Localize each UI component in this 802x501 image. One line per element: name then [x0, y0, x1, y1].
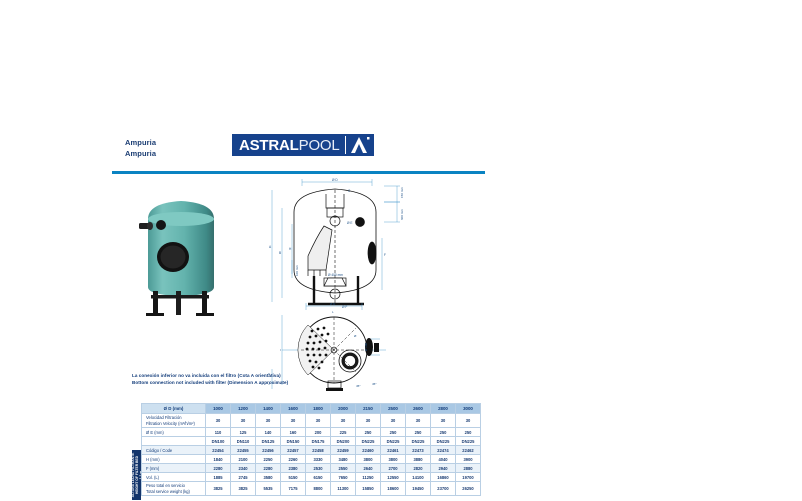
table-cell: 22456	[256, 446, 281, 455]
row-label: Velocidad Filtración Filtration Velocity…	[142, 414, 206, 428]
table-cell: 7175	[281, 482, 306, 496]
caption-line-en: Bottom connection not included with filt…	[132, 379, 362, 386]
table-cell: 22474	[431, 446, 456, 455]
row-label: Código / Code	[142, 446, 206, 455]
table-cell: 30	[231, 414, 256, 428]
table-cell: 2340	[231, 464, 256, 473]
table-cell: 22462	[456, 446, 481, 455]
table-corner-label: Ø D (mm)	[142, 404, 206, 414]
row-label: F (mm)	[142, 464, 206, 473]
logo-primary-text: ASTRAL	[239, 137, 299, 154]
table-cell: 2940	[431, 464, 456, 473]
table-row: H (mm) 1840 2100 2250 2260 3330 3480 380…	[142, 455, 481, 464]
logo-wordmark: ASTRALPOOL	[232, 138, 340, 153]
table-cell: 30	[381, 414, 406, 428]
table-row: Ø E (mm) 110 125 140 160 200 225 250 250…	[142, 428, 481, 437]
table-cell: DN125	[256, 437, 281, 446]
table-cell: 125	[231, 428, 256, 437]
row-label	[142, 437, 206, 446]
table-cell: DN200	[331, 437, 356, 446]
table-cell: 30	[456, 414, 481, 428]
table-cell: 160	[281, 428, 306, 437]
table-cell: 250	[381, 428, 406, 437]
table-cell: DN175	[306, 437, 331, 446]
table-cell: 22459	[331, 446, 356, 455]
table-cell: 200	[306, 428, 331, 437]
table-cell: 2640	[356, 464, 381, 473]
table-cell: 2260	[281, 455, 306, 464]
table-body: Velocidad Filtración Filtration Velocity…	[142, 414, 481, 496]
table-row: F (mm) 2280 2340 2280 2380 2530 2550 264…	[142, 464, 481, 473]
table-cell: 30	[431, 414, 456, 428]
table-cell: 250	[431, 428, 456, 437]
droplet-arch-icon	[345, 136, 372, 154]
table-cell: DN225	[406, 437, 431, 446]
svg-text:600 mm: 600 mm	[400, 209, 404, 220]
svg-text:Ø 100: Ø 100	[364, 342, 368, 351]
svg-text:45°: 45°	[372, 382, 377, 386]
table-cell: 22455	[231, 446, 256, 455]
table-cell: DN110	[231, 437, 256, 446]
table-col-header: 1600	[281, 404, 306, 414]
row-label: H (mm)	[142, 455, 206, 464]
table-cell: 22458	[306, 446, 331, 455]
table-cell: 2550	[331, 464, 356, 473]
row-label: Vol. (L)	[142, 473, 206, 482]
header-divider	[112, 171, 485, 174]
table-cell: 1885	[206, 473, 231, 482]
table-cell: 3825	[231, 482, 256, 496]
table-row: Peso total en servicio Total service wei…	[142, 482, 481, 496]
table-cell: 2280	[206, 464, 231, 473]
table-cell: 3580	[256, 473, 281, 482]
table-cell: 3800	[381, 455, 406, 464]
table-col-header: 2600	[406, 404, 431, 414]
table-cell: 30	[356, 414, 381, 428]
svg-text:F: F	[384, 253, 386, 257]
table-cell: 3330	[306, 455, 331, 464]
table-header-row: Ø D (mm) 1000 1200 1400 1600 1800 2000 2…	[142, 404, 481, 414]
technical-data-table: Ø D (mm) 1000 1200 1400 1600 1800 2000 2…	[141, 403, 481, 496]
table-cell: 5535	[256, 482, 281, 496]
drawing-caption: La conexión inferior no va incluida con …	[132, 372, 362, 387]
table-cell: DN225	[381, 437, 406, 446]
svg-text:Ø D: Ø D	[332, 178, 338, 182]
table-cell: DN225	[356, 437, 381, 446]
table-col-header: 2000	[331, 404, 356, 414]
table-row: Código / Code 22454 22455 22456 22457 22…	[142, 446, 481, 455]
table-cell: 2280	[256, 464, 281, 473]
svg-text:I: I	[280, 348, 281, 352]
table-cell: 18600	[381, 482, 406, 496]
datasheet-page: Ampuria Ampuria ASTRALPOOL	[0, 0, 802, 501]
svg-text:A: A	[269, 245, 272, 249]
table-cell: 3480	[331, 455, 356, 464]
table-cell: DN150	[281, 437, 306, 446]
table-cell: 15850	[356, 482, 381, 496]
table-cell: 22473	[406, 446, 431, 455]
technical-data-table-wrap: ALTURA LECHO FILTRANTE HEIGHT OF FILTER …	[132, 403, 480, 500]
filter-front-section-drawing: Ø D C Ø E Ø 400 mm Ø F A B H F 150 mm 60…	[264, 178, 406, 310]
table-cell: 250	[356, 428, 381, 437]
svg-text:150 mm: 150 mm	[400, 187, 404, 198]
table-cell: 30	[281, 414, 306, 428]
table-cell: 30	[206, 414, 231, 428]
svg-text:Ø E: Ø E	[347, 221, 353, 225]
table-cell: 4040	[431, 455, 456, 464]
table-cell: 110	[206, 428, 231, 437]
row-label: Ø E (mm)	[142, 428, 206, 437]
table-cell: 16860	[431, 473, 456, 482]
row-label-en: Filtration Velocity (m³/h/m²)	[146, 421, 205, 427]
table-cell: 2250	[256, 455, 281, 464]
table-col-header: 1400	[256, 404, 281, 414]
table-cell: 22460	[356, 446, 381, 455]
table-cell: 2380	[281, 464, 306, 473]
table-cell: 2700	[381, 464, 406, 473]
table-cell: 3800	[356, 455, 381, 464]
table-cell: 14100	[406, 473, 431, 482]
table-cell: 22454	[206, 446, 231, 455]
table-row: Velocidad Filtración Filtration Velocity…	[142, 414, 481, 428]
svg-text:H: H	[289, 247, 292, 251]
table-col-header: 2500	[381, 404, 406, 414]
product-name-en: Ampuria	[125, 148, 156, 159]
table-cell: 7650	[331, 473, 356, 482]
table-cell: 3900	[456, 455, 481, 464]
table-cell: 3880	[406, 455, 431, 464]
table-cell: 30	[256, 414, 281, 428]
caption-line-es: La conexión inferior no va incluida con …	[132, 372, 362, 379]
table-col-header: 1200	[231, 404, 256, 414]
table-row: Vol. (L) 1885 2745 3580 5150 6150 7650 1…	[142, 473, 481, 482]
filter-bed-height-text: ALTURA LECHO FILTRANTE HEIGHT OF FILTER …	[132, 453, 141, 498]
table-col-header: 2800	[431, 404, 456, 414]
astralpool-logo: ASTRALPOOL	[232, 134, 374, 156]
sidebar-line-2: HEIGHT OF FILTER BED	[135, 453, 139, 498]
svg-text:Ø 400 mm: Ø 400 mm	[328, 273, 343, 277]
filter-product-photo	[126, 191, 236, 321]
table-cell: 2880	[456, 464, 481, 473]
table-cell: 2100	[231, 455, 256, 464]
table-cell: DN225	[456, 437, 481, 446]
table-col-header: 3000	[456, 404, 481, 414]
svg-text:B: B	[279, 251, 281, 255]
table-cell: DN225	[431, 437, 456, 446]
table-cell: DN100	[206, 437, 231, 446]
row-label-en: Total service weight (kg)	[146, 489, 205, 495]
table-cell: 225	[331, 428, 356, 437]
table-col-header: 1000	[206, 404, 231, 414]
svg-text:L: L	[332, 310, 334, 314]
product-name-es: Ampuria	[125, 137, 156, 148]
table-cell: 19700	[456, 473, 481, 482]
table-cell: 22457	[281, 446, 306, 455]
table-cell: 12550	[381, 473, 406, 482]
table-cell: 2820	[406, 464, 431, 473]
svg-text:100 mm: 100 mm	[295, 265, 299, 276]
row-label: Peso total en servicio Total service wei…	[142, 482, 206, 496]
table-cell: 6150	[306, 473, 331, 482]
table-cell: 1840	[206, 455, 231, 464]
logo-secondary-text: POOL	[299, 137, 340, 154]
table-cell: 3825	[206, 482, 231, 496]
table-cell: 2745	[231, 473, 256, 482]
table-cell: 2530	[306, 464, 331, 473]
table-cell: 30	[331, 414, 356, 428]
table-cell: 250	[406, 428, 431, 437]
table-col-header: 1800	[306, 404, 331, 414]
page-header: Ampuria Ampuria ASTRALPOOL	[112, 134, 485, 168]
table-cell: 19450	[406, 482, 431, 496]
svg-text:Ø D: Ø D	[330, 303, 336, 306]
table-row: DN100 DN110 DN125 DN150 DN175 DN200 DN22…	[142, 437, 481, 446]
table-cell: 250	[456, 428, 481, 437]
table-cell: 30	[306, 414, 331, 428]
table-cell: 8800	[306, 482, 331, 496]
table-cell: 11250	[356, 473, 381, 482]
table-cell: 5150	[281, 473, 306, 482]
table-cell: 11300	[331, 482, 356, 496]
table-cell: 140	[256, 428, 281, 437]
filter-bed-height-sidebar: ALTURA LECHO FILTRANTE HEIGHT OF FILTER …	[132, 450, 141, 500]
table-col-header: 2150	[356, 404, 381, 414]
product-title-block: Ampuria Ampuria	[125, 137, 156, 159]
table-cell: 22461	[381, 446, 406, 455]
table-cell: 30	[406, 414, 431, 428]
table-cell: 26250	[456, 482, 481, 496]
table-cell: 23700	[431, 482, 456, 496]
